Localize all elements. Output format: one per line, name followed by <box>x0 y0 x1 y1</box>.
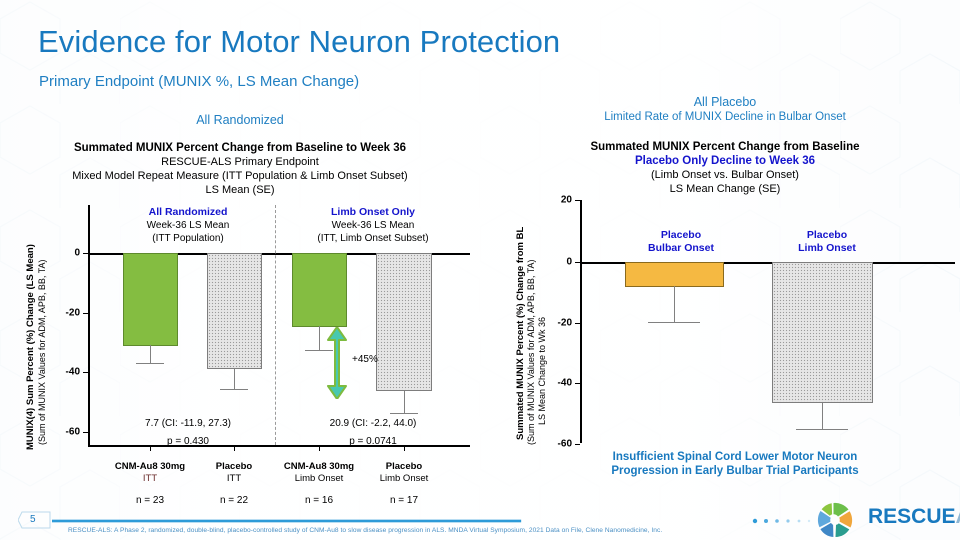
footer-dots <box>752 517 812 525</box>
errorbar-stem-placebo-bulbar <box>674 286 675 322</box>
right-ytick-mark-m20 <box>575 323 580 324</box>
left-ytick-mark-m20 <box>83 313 88 314</box>
right-panel-caption: Insufficient Spinal Cord Lower Motor Neu… <box>520 450 950 478</box>
bar-placebo-itt <box>207 253 262 369</box>
delta-arrow-icon <box>326 327 348 399</box>
page-subtitle: Primary Endpoint (MUNIX %, LS Mean Chang… <box>39 73 359 90</box>
right-y-axis-line <box>580 200 582 443</box>
right-ytick-label-0: 0 <box>538 257 572 268</box>
right-caption-line1: Insufficient Spinal Cord Lower Motor Neu… <box>520 450 950 464</box>
errorbar-cap-placebo-bulbar <box>648 322 700 323</box>
right-plot-area: 20 0 -20 -40 -60 Summated MUNIX Percent … <box>500 95 960 495</box>
right-y-axis-subtitle-2: LS Mean Change to Wk 36 <box>532 317 550 425</box>
left-xlabel-4-line2: Limb Onset <box>354 473 454 485</box>
footer-rule <box>52 519 804 523</box>
errorbar-cap-placebo-limb-right <box>796 429 848 430</box>
left-xtick-3 <box>319 446 320 451</box>
right-ytick-label-20: 20 <box>538 195 572 206</box>
right-ytick-mark-m60 <box>575 444 580 445</box>
left-group-sub1-2: Week-36 LS Mean <box>275 219 471 232</box>
bar-cnm-au8-limb-onset <box>292 253 347 327</box>
bar-placebo-bulbar-onset <box>625 262 724 287</box>
right-group-label-limb-line2: Limb Onset <box>762 242 892 255</box>
bar-cnm-au8-itt <box>123 253 178 346</box>
left-x-axis-line <box>88 445 470 447</box>
left-group-title-1: All Randomized <box>98 206 278 219</box>
right-group-label-bulbar: Placebo Bulbar Onset <box>616 229 746 255</box>
left-xlabel-4: Placebo Limb Onset <box>354 461 454 485</box>
footer-citation: RESCUE-ALS: A Phase 2, randomized, doubl… <box>68 527 662 534</box>
logo-text-secondary: ALS <box>956 505 960 528</box>
left-ytick-label-0: 0 <box>46 248 80 259</box>
errorbar-cap-placebo-limb <box>390 413 418 414</box>
page-number: 5 <box>30 514 36 525</box>
delta-percent-label: +45% <box>352 354 378 365</box>
bar-placebo-limb-onset-right <box>772 262 873 403</box>
left-plot-area: 0 -20 -40 -60 MUNIX(4) Sum Percent (%) C… <box>0 105 500 505</box>
errorbar-stem-placebo-limb <box>404 391 405 413</box>
left-stat-all-randomized: 7.7 (CI: -11.9, 27.3) <box>98 418 278 429</box>
left-ytick-mark-m40 <box>83 372 88 373</box>
left-y-axis-line <box>88 205 90 445</box>
page-title: Evidence for Motor Neuron Protection <box>38 24 560 60</box>
left-xtick-1 <box>150 446 151 451</box>
right-ytick-mark-0 <box>575 262 580 263</box>
right-group-label-limb: Placebo Limb Onset <box>762 229 892 255</box>
errorbar-cap-cnm-au8-itt <box>136 363 164 364</box>
left-n-label-4: n = 17 <box>354 495 454 506</box>
bar-placebo-limb-onset <box>376 253 432 391</box>
right-ytick-label-m60: -60 <box>538 439 572 450</box>
left-ytick-mark-m60 <box>83 432 88 433</box>
errorbar-cap-placebo-itt <box>220 389 248 390</box>
left-group-sub1-1: Week-36 LS Mean <box>98 219 278 232</box>
left-xtick-4 <box>404 446 405 451</box>
left-ytick-mark-0 <box>83 253 88 254</box>
left-ytick-label-m40: -40 <box>46 367 80 378</box>
errorbar-stem-cnm-au8-itt <box>150 345 151 363</box>
right-ytick-mark-20 <box>575 200 580 201</box>
left-group-sub2-1: (ITT Population) <box>98 232 278 245</box>
errorbar-stem-cnm-au8-limb <box>319 326 320 350</box>
left-group-header-limb-onset: Limb Onset Only Week-36 LS Mean (ITT, Li… <box>275 206 471 245</box>
right-y-axis-title-sub2: LS Mean Change to Wk 36 <box>537 317 547 425</box>
rescue-als-logo-icon <box>812 500 858 540</box>
left-y-axis-subtitle: (Sum of MUNIX Values for ADM, APB, BB, T… <box>32 259 50 445</box>
left-xtick-2 <box>234 446 235 451</box>
rescue-als-logo-text: RESCUEALS <box>868 505 960 529</box>
left-ytick-label-m20: -20 <box>46 307 80 318</box>
right-caption-line2: Progression in Early Bulbar Trial Partic… <box>520 464 950 478</box>
errorbar-stem-placebo-itt <box>234 368 235 389</box>
left-stat-limb-onset: 20.9 (CI: -2.2, 44.0) <box>275 418 471 429</box>
right-group-label-limb-line1: Placebo <box>762 229 892 242</box>
logo-text-primary: RESCUE <box>868 505 956 528</box>
left-group-header-all-randomized: All Randomized Week-36 LS Mean (ITT Popu… <box>98 206 278 245</box>
left-y-axis-title-sub: (Sum of MUNIX Values for ADM, APB, BB, T… <box>37 259 47 445</box>
left-xlabel-4-line1: Placebo <box>354 461 454 473</box>
left-group-divider <box>275 205 276 445</box>
errorbar-stem-placebo-limb-right <box>822 403 823 429</box>
left-group-sub2-2: (ITT, Limb Onset Subset) <box>275 232 471 245</box>
right-group-label-bulbar-line1: Placebo <box>616 229 746 242</box>
right-chart-panel: All Placebo Limited Rate of MUNIX Declin… <box>500 95 960 495</box>
right-ytick-mark-m40 <box>575 383 580 384</box>
right-group-label-bulbar-line2: Bulbar Onset <box>616 242 746 255</box>
left-group-title-2: Limb Onset Only <box>275 206 471 219</box>
left-chart-panel: All Randomized Summated MUNIX Percent Ch… <box>0 105 500 505</box>
left-ytick-label-m60: -60 <box>46 427 80 438</box>
